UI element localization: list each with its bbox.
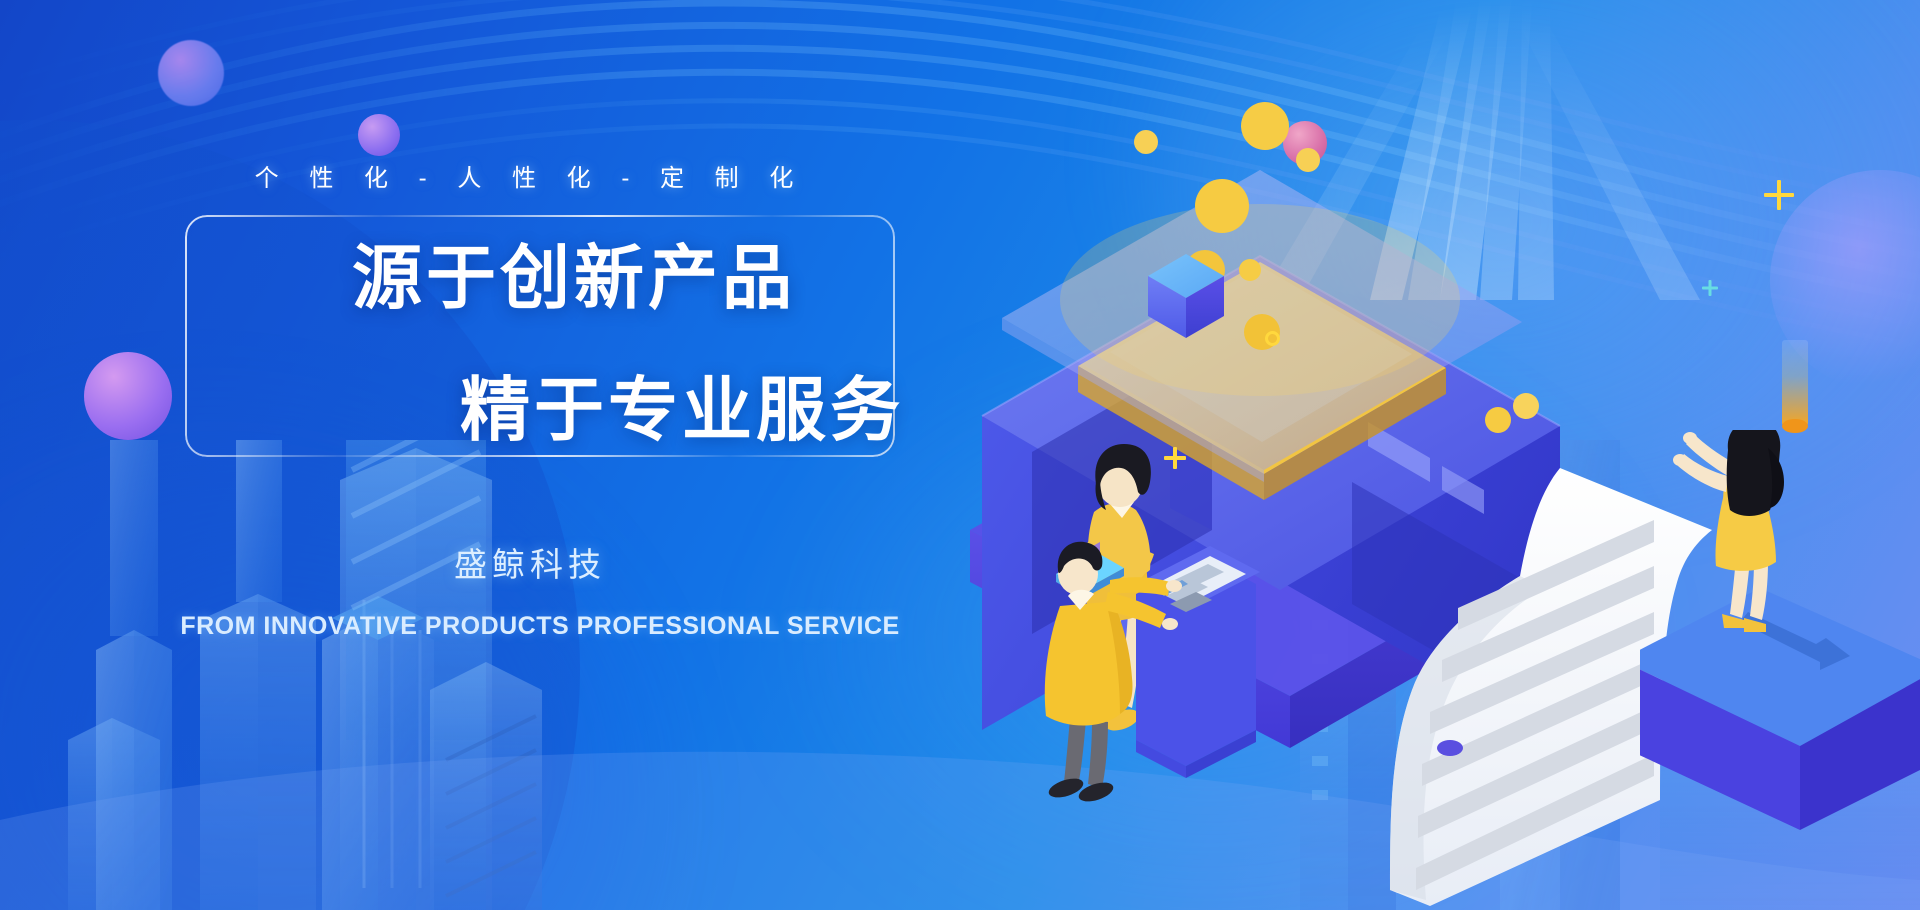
isometric-cube-decoration [1144, 250, 1228, 342]
man-at-kiosk-terminal [1020, 530, 1310, 830]
cylinder-small-purple [1437, 740, 1463, 756]
headline-line-1: 源于创新产品 [352, 243, 796, 313]
subtitle-english: FROM INNOVATIVE PRODUCTS PROFESSIONAL SE… [0, 612, 1080, 641]
headline-line-2: 精于专业服务 [460, 375, 904, 445]
decorative-sphere-purple-small [358, 114, 400, 156]
plus-icon-teal [1702, 280, 1718, 296]
decorative-sphere-violet [84, 352, 172, 440]
plus-icon-yellow-small [1164, 447, 1186, 469]
company-name: 盛鲸科技 [0, 538, 1060, 586]
decorative-sphere-purple-large [158, 40, 224, 106]
woman-holding-paper [1640, 430, 1920, 830]
building-ribbed [346, 440, 486, 740]
ring-icon-yellow [1265, 331, 1280, 346]
plus-icon-yellow-large [1764, 180, 1794, 210]
hero-banner: 个 性 化 - 人 性 化 - 定 制 化 源于创新产品 精于专业服务 盛鲸科技… [0, 0, 1920, 910]
tagline-text: 个 性 化 - 人 性 化 - 定 制 化 [0, 158, 1060, 193]
cylinder-tube-orange [1782, 340, 1808, 426]
